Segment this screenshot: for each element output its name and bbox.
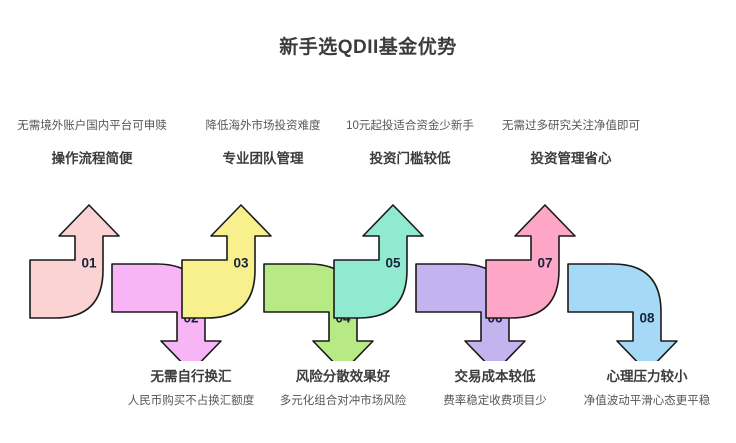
arrow-number-07: 07 — [537, 256, 552, 271]
arrow-shape-01 — [30, 205, 119, 318]
step-text-top-07: 无需过多研究关注净值即可 投资管理省心 — [480, 118, 662, 167]
arrow-flow-diagram: 01 02 03 04 05 06 07 — [0, 186, 736, 361]
step-text-top-03: 降低海外市场投资难度 专业团队管理 — [180, 118, 346, 167]
arrow-step-07: 07 — [486, 205, 575, 318]
arrow-number-05: 05 — [385, 256, 401, 271]
step-sub-05: 10元起投适合资金少新手 — [324, 118, 496, 135]
arrow-shape-07 — [486, 205, 575, 318]
step-sub-02: 人民币购买不占换汇额度 — [104, 393, 278, 410]
arrow-shape-05 — [334, 205, 423, 318]
step-heading-05: 投资门槛较低 — [324, 151, 496, 167]
step-text-bottom-06: 交易成本较低 费率稳定收费项目少 — [408, 369, 582, 410]
step-text-top-05: 10元起投适合资金少新手 投资门槛较低 — [324, 118, 496, 167]
step-heading-01: 操作流程简便 — [8, 151, 176, 167]
step-text-top-01: 无需境外账户国内平台可申赎 操作流程简便 — [8, 118, 176, 167]
step-heading-04: 风险分散效果好 — [256, 369, 430, 385]
arrow-shape-08 — [568, 264, 677, 361]
step-sub-01: 无需境外账户国内平台可申赎 — [8, 118, 176, 135]
step-heading-06: 交易成本较低 — [408, 369, 582, 385]
step-text-bottom-02: 无需自行换汇 人民币购买不占换汇额度 — [104, 369, 278, 410]
page-title: 新手选QDII基金优势 — [0, 32, 736, 59]
step-sub-04: 多元化组合对冲市场风险 — [256, 393, 430, 410]
infographic-canvas: 新手选QDII基金优势 无需境外账户国内平台可申赎 操作流程简便 降低海外市场投… — [0, 0, 736, 443]
step-heading-08: 心理压力较小 — [558, 369, 736, 385]
step-sub-07: 无需过多研究关注净值即可 — [480, 118, 662, 135]
arrow-number-01: 01 — [81, 256, 97, 271]
arrow-step-03: 03 — [182, 205, 271, 318]
arrow-number-08: 08 — [639, 311, 655, 326]
arrow-number-03: 03 — [233, 256, 249, 271]
arrow-step-01: 01 — [30, 205, 119, 318]
step-heading-03: 专业团队管理 — [180, 151, 346, 167]
step-heading-02: 无需自行换汇 — [104, 369, 278, 385]
arrow-shape-03 — [182, 205, 271, 318]
step-text-bottom-08: 心理压力较小 净值波动平滑心态更平稳 — [558, 369, 736, 410]
step-text-bottom-04: 风险分散效果好 多元化组合对冲市场风险 — [256, 369, 430, 410]
step-heading-07: 投资管理省心 — [480, 151, 662, 167]
arrow-step-05: 05 — [334, 205, 423, 318]
step-sub-06: 费率稳定收费项目少 — [408, 393, 582, 410]
step-sub-03: 降低海外市场投资难度 — [180, 118, 346, 135]
step-sub-08: 净值波动平滑心态更平稳 — [558, 393, 736, 410]
arrow-step-08: 08 — [568, 264, 677, 361]
